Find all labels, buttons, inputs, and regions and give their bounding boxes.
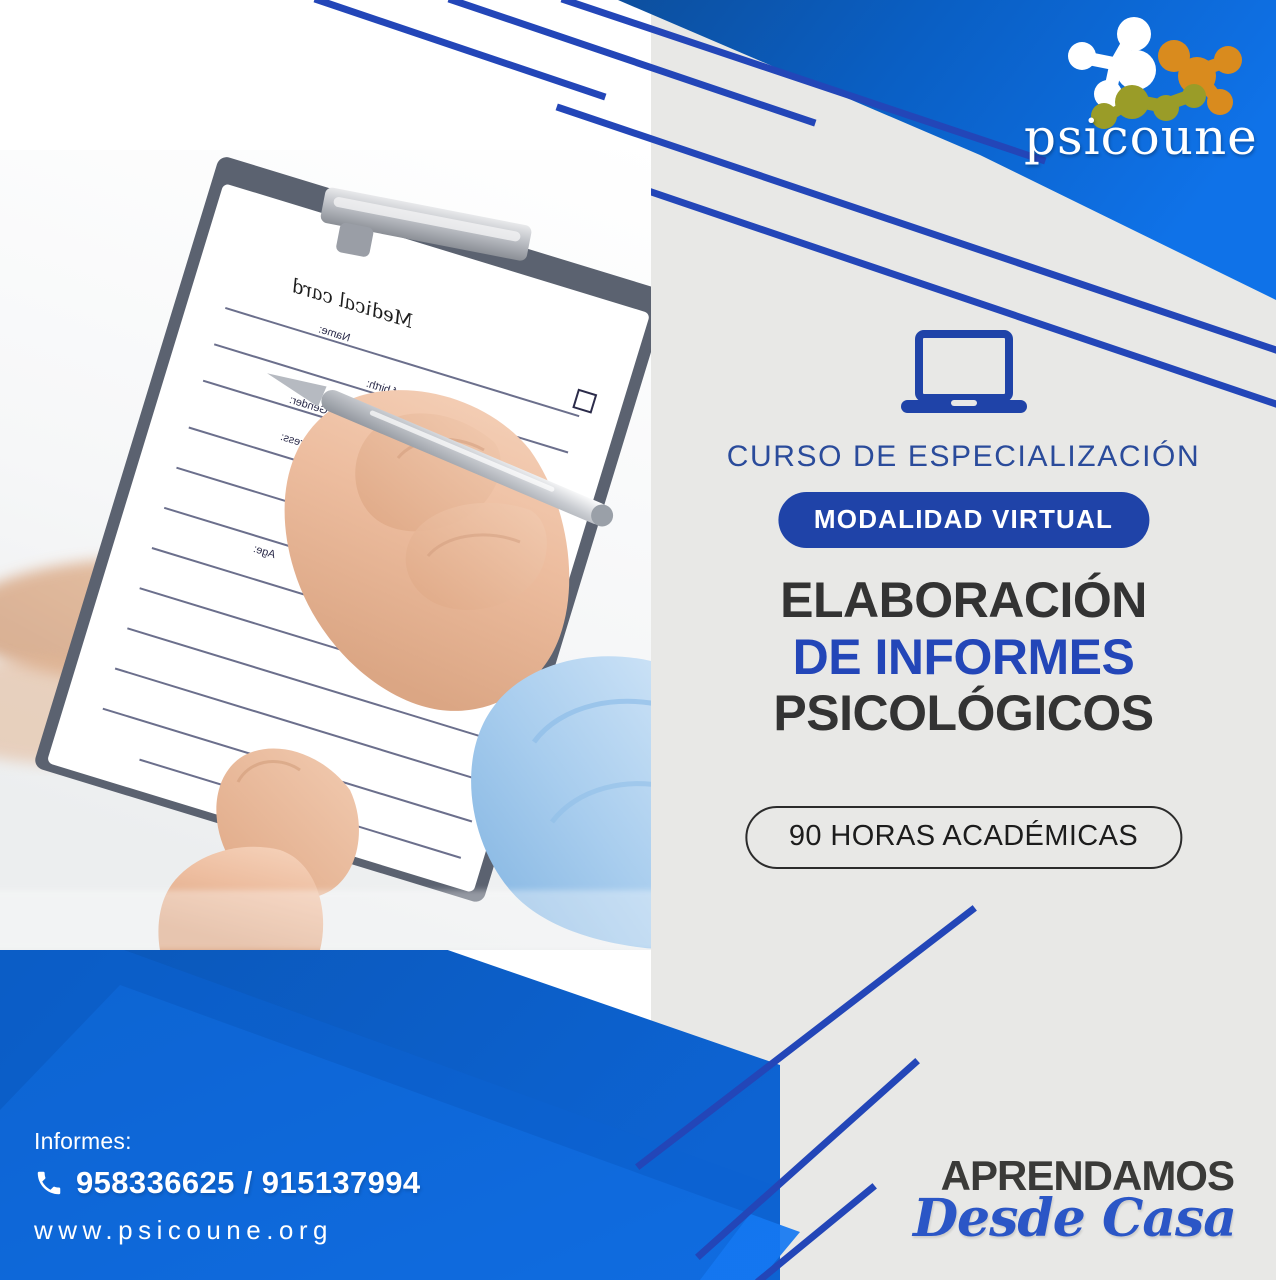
course-title: ELABORACIÓN DE INFORMES PSICOLÓGICOS [651,572,1276,742]
contact-label: Informes: [34,1128,421,1155]
course-title-line3: PSICOLÓGICOS [651,685,1276,742]
course-title-line1: ELABORACIÓN [651,572,1276,629]
course-title-line2: DE INFORMES [651,629,1276,686]
laptop-icon [651,330,1276,422]
contact-block: Informes: 958336625 / 915137994 www.psic… [34,1128,421,1246]
course-eyebrow: CURSO DE ESPECIALIZACIÓN [651,440,1276,474]
hero-photo: Medical card Name: Date of birth: Gender… [0,0,651,1100]
modality-badge: MODALIDAD VIRTUAL [778,492,1149,548]
hours-badge: 90 HORAS ACADÉMICAS [745,806,1182,869]
phone-icon [34,1168,64,1198]
promotional-poster: Medical card Name: Date of birth: Gender… [0,0,1276,1280]
main-content: CURSO DE ESPECIALIZACIÓN MODALIDAD VIRTU… [651,0,1276,1280]
phone-numbers-row[interactable]: 958336625 / 915137994 [34,1165,421,1201]
slogan-line2: Desde Casa [913,1188,1236,1249]
phone-numbers: 958336625 / 915137994 [76,1165,421,1201]
website-url[interactable]: www.psicoune.org [34,1215,421,1246]
clipboard-writing-photo: Medical card Name: Date of birth: Gender… [0,150,651,950]
slogan-block: APRENDAMOS Desde Casa [908,1152,1238,1252]
